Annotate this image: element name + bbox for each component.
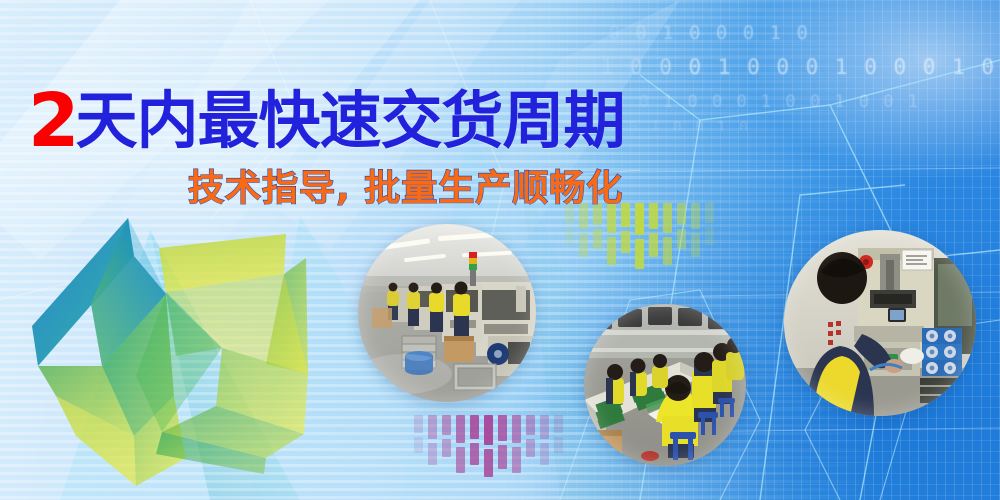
photo-vignette [358, 224, 536, 402]
bar-segment [565, 227, 574, 245]
bar-pair [607, 203, 616, 269]
bar-segment [663, 237, 672, 265]
bar-pair [565, 203, 574, 269]
bar-segment [456, 447, 465, 473]
bar-pair [526, 415, 535, 477]
bar-segment [663, 203, 672, 233]
abstract-polygon-logo-icon [16, 196, 346, 496]
bar-segment [484, 415, 493, 445]
bar-pair [470, 415, 479, 477]
bar-segment [428, 415, 437, 439]
bar-segment [540, 415, 549, 439]
bar-segment [607, 237, 616, 265]
green-bar-cluster [565, 203, 714, 269]
bar-segment [512, 415, 521, 443]
bar-pair [579, 203, 588, 269]
bar-pair [677, 203, 686, 269]
bar-pair [649, 203, 658, 269]
bar-segment [540, 443, 549, 465]
bar-pair [414, 415, 423, 477]
bar-pair [484, 415, 493, 477]
promotional-banner: 0 0 0 1 0 0 0 1 0 0 0 1 0 0 1 0 0 1 0 0 … [0, 0, 1000, 500]
bar-pair [593, 203, 602, 269]
bar-segment [691, 233, 700, 257]
photo-assembly-workbench [584, 304, 746, 466]
bar-segment [593, 229, 602, 249]
headline-text: 天内最快速交货周期 [76, 84, 625, 157]
bar-segment [635, 239, 644, 269]
bar-segment [526, 415, 535, 435]
bar-segment [442, 439, 451, 457]
bar-segment [649, 233, 658, 257]
bar-segment [414, 415, 423, 433]
bar-segment [470, 443, 479, 465]
bar-pair [456, 415, 465, 477]
photo-machine-operator [784, 230, 976, 416]
subtitle: 技术指导, 批量生产顺畅化 [188, 170, 623, 208]
headline-number: 2 [28, 78, 76, 164]
bar-segment [526, 439, 535, 457]
bar-pair [621, 203, 630, 269]
bar-segment [498, 415, 507, 441]
bar-pair [442, 415, 451, 477]
bar-segment [677, 229, 686, 249]
bar-pair [663, 203, 672, 269]
bar-segment [554, 415, 563, 433]
bar-pair [540, 415, 549, 477]
bar-segment [442, 415, 451, 435]
bar-segment [512, 447, 521, 473]
bar-segment [649, 203, 658, 229]
bar-segment [621, 231, 630, 253]
bar-segment [579, 233, 588, 257]
bar-segment [498, 445, 507, 469]
bar-pair [512, 415, 521, 477]
bar-segment [677, 203, 686, 225]
bar-segment [705, 227, 714, 245]
bar-segment [456, 415, 465, 443]
bar-segment [414, 437, 423, 453]
purple-bar-cluster [414, 415, 563, 477]
bar-segment [691, 203, 700, 229]
bar-pair [691, 203, 700, 269]
bar-segment [428, 443, 437, 465]
photo-vignette [784, 230, 976, 416]
bar-segment [705, 203, 714, 223]
bar-pair [705, 203, 714, 269]
bar-pair [498, 415, 507, 477]
photo-vignette [584, 304, 746, 466]
bar-segment [635, 203, 644, 235]
bar-pair [635, 203, 644, 269]
headline: 2天内最快速交货周期 [28, 84, 625, 158]
bar-pair [428, 415, 437, 477]
photo-smt-production-line [358, 224, 536, 402]
bar-segment [484, 449, 493, 477]
bar-pair [554, 415, 563, 477]
bar-segment [554, 437, 563, 453]
bar-segment [470, 415, 479, 439]
